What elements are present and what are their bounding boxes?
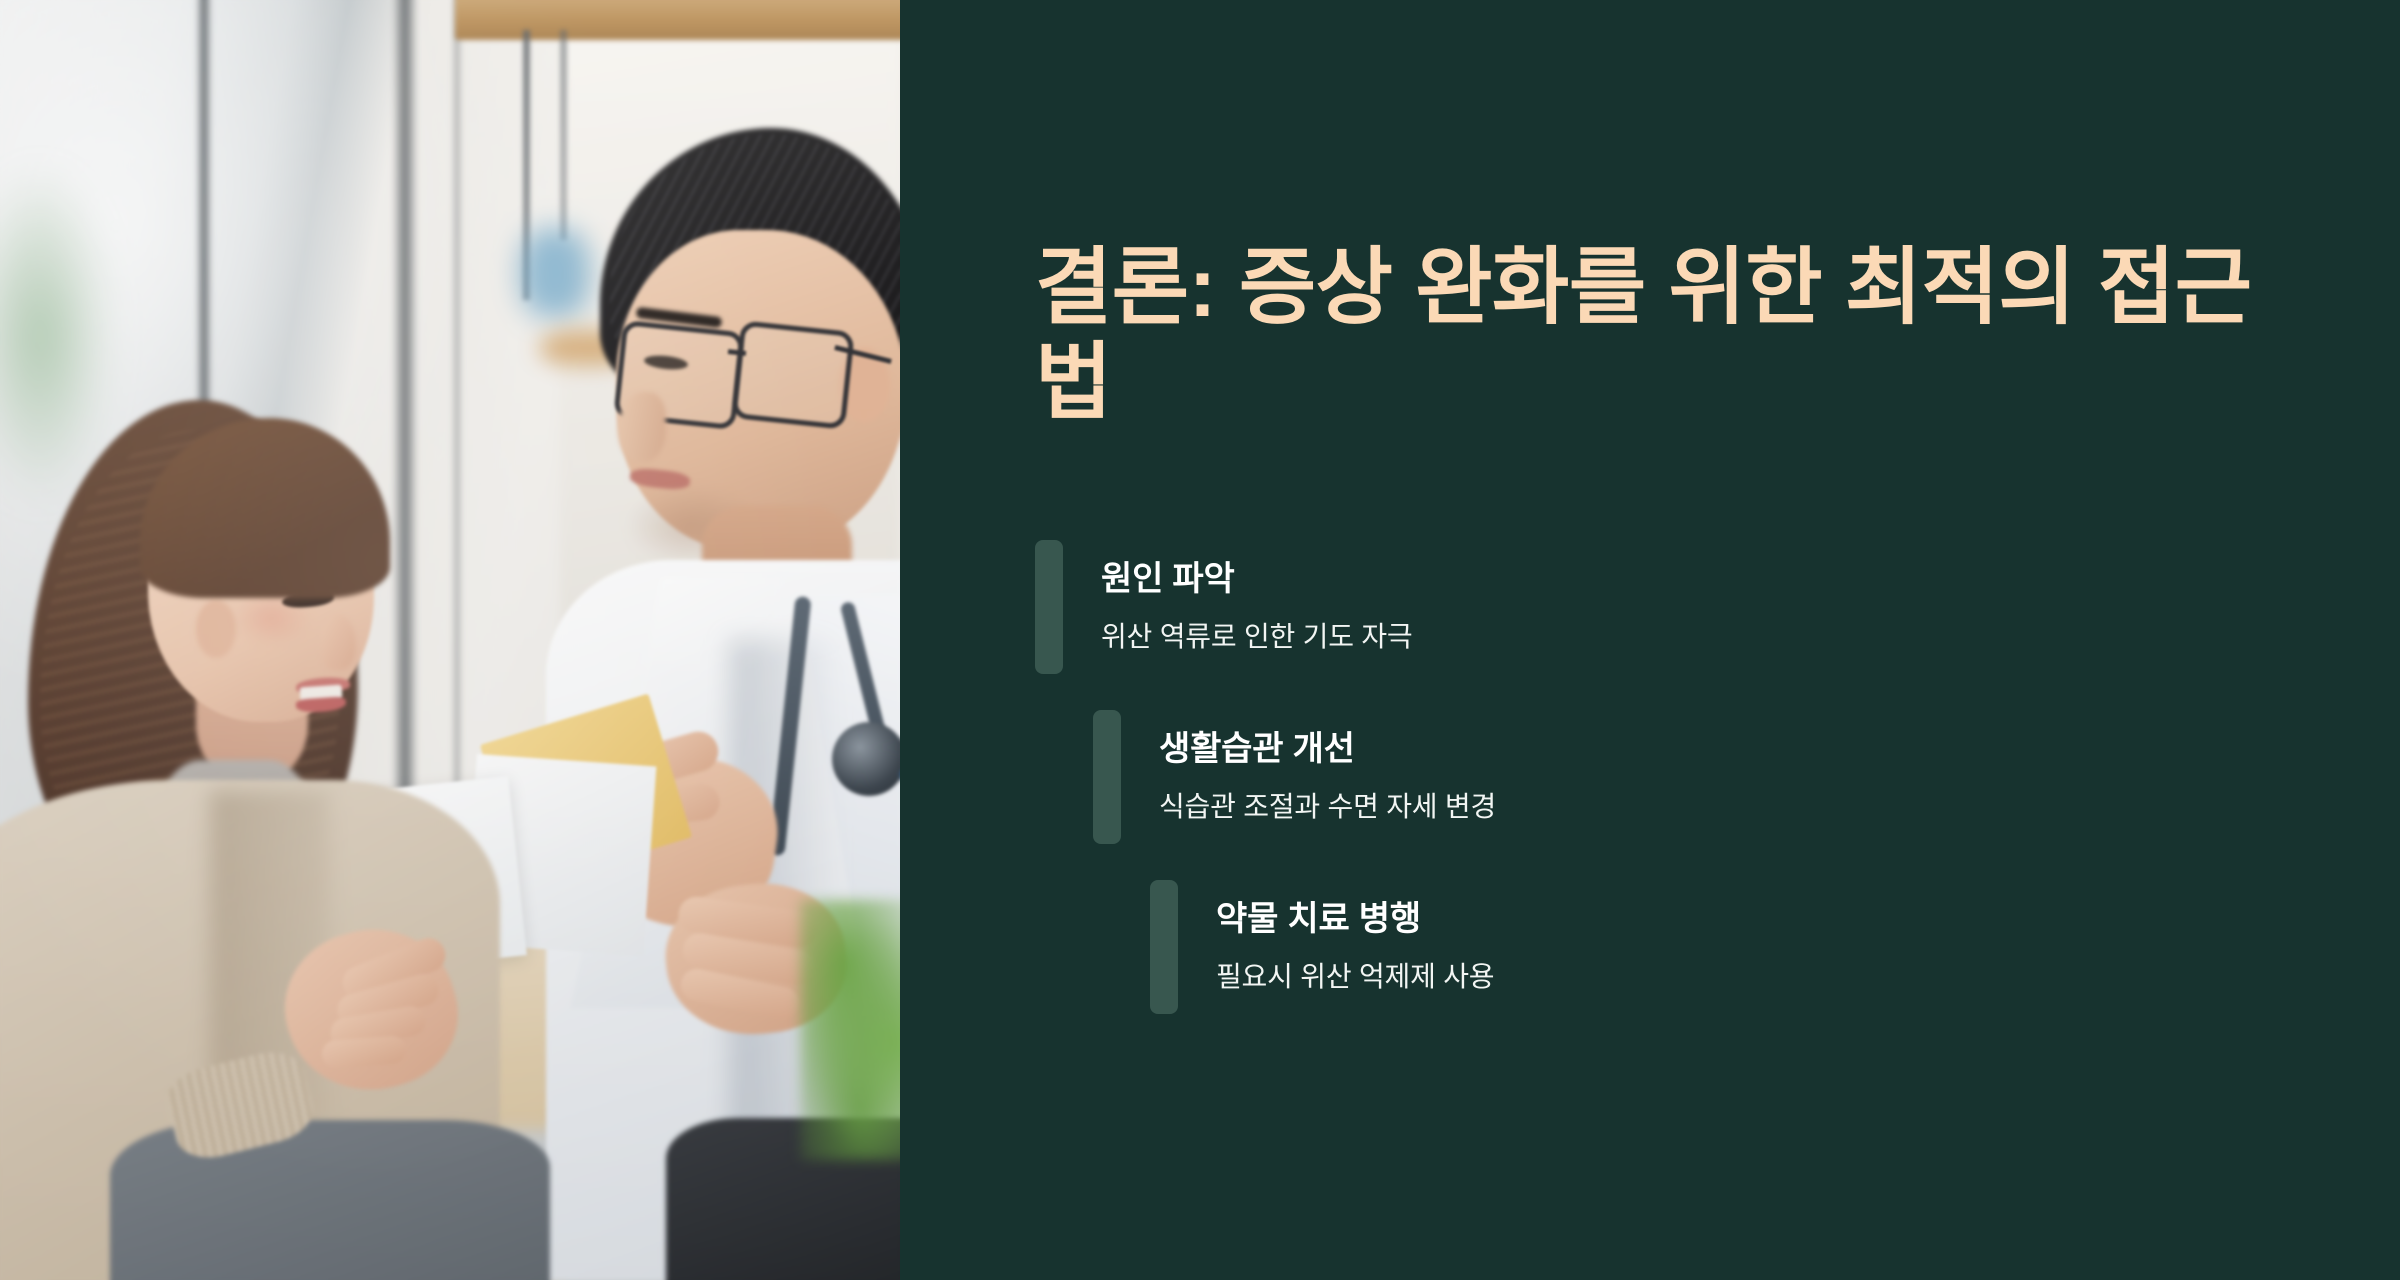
photo-panel: [0, 0, 900, 1280]
step-text-group: 약물 치료 병행 필요시 위산 억제제 사용: [1178, 880, 1494, 1014]
step-text-group: 생활습관 개선 식습관 조절과 수면 자세 변경: [1121, 710, 1496, 844]
patient-ear: [196, 600, 236, 658]
step-item: 생활습관 개선 식습관 조절과 수면 자세 변경: [900, 710, 2400, 844]
step-accent-bar: [1093, 710, 1121, 844]
step-subtext: 식습관 조절과 수면 자세 변경: [1159, 791, 1496, 823]
patient-trousers: [110, 1120, 550, 1280]
step-heading: 생활습관 개선: [1159, 731, 1496, 768]
step-subtext: 위산 역류로 인한 기도 자극: [1101, 621, 1412, 653]
content-panel: 결론: 증상 완화를 위한 최적의 접근법 원인 파악 위산 역류로 인한 기도…: [900, 0, 2400, 1280]
slide: 결론: 증상 완화를 위한 최적의 접근법 원인 파악 위산 역류로 인한 기도…: [0, 0, 2400, 1280]
step-heading: 약물 치료 병행: [1216, 901, 1494, 938]
clinic-photo: [0, 0, 900, 1280]
step-heading: 원인 파악: [1101, 561, 1412, 598]
step-text-group: 원인 파악 위산 역류로 인한 기도 자극: [1063, 540, 1412, 674]
slide-title: 결론: 증상 완화를 위한 최적의 접근법: [1035, 240, 2285, 430]
step-accent-bar: [1150, 880, 1178, 1014]
step-item: 원인 파악 위산 역류로 인한 기도 자극: [900, 540, 2400, 674]
potted-plant: [800, 900, 900, 1160]
step-accent-bar: [1035, 540, 1063, 674]
patient-figure: [0, 0, 520, 1280]
step-subtext: 필요시 위산 억제제 사용: [1216, 961, 1494, 993]
steps-list: 원인 파악 위산 역류로 인한 기도 자극 생활습관 개선 식습관 조절과 수면…: [900, 540, 2400, 1050]
step-item: 약물 치료 병행 필요시 위산 억제제 사용: [900, 880, 2400, 1014]
patient-finger: [321, 1035, 407, 1069]
